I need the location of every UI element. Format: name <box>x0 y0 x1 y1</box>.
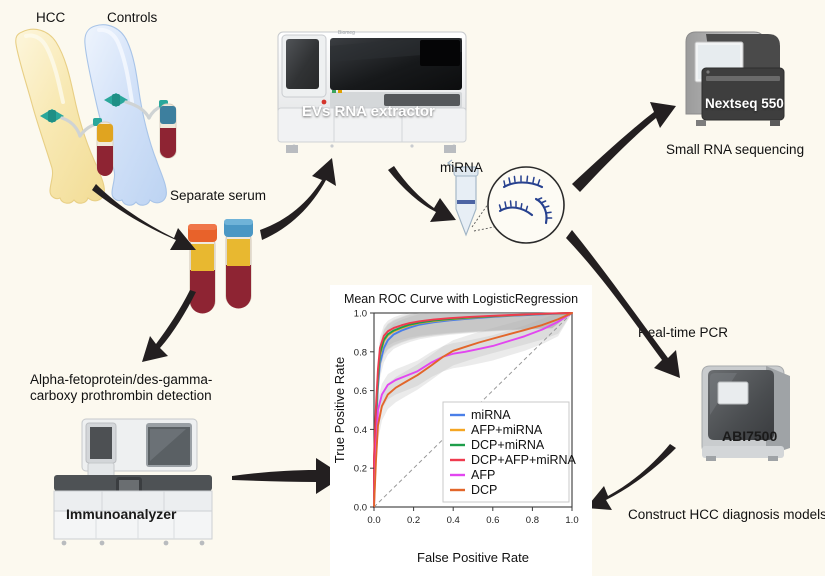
legend-label: DCP+miRNA <box>471 438 545 452</box>
chart-xlabel: False Positive Rate <box>417 550 529 565</box>
x-tick-label: 1.0 <box>565 515 578 526</box>
workflow-figure: HCC Controls Separate serum <box>0 0 825 576</box>
arrow-mirna-to-nextseq <box>572 102 676 192</box>
y-tick-label: 0.6 <box>354 386 367 397</box>
x-tick-label: 0.2 <box>407 515 420 526</box>
arrow-arms-to-tubes <box>92 184 196 250</box>
y-tick-label: 1.0 <box>354 309 367 320</box>
y-tick-label: 0.2 <box>354 464 367 475</box>
roc-chart: Mean ROC Curve with LogisticRegression 0… <box>330 285 592 576</box>
arrow-tubes-to-extractor <box>260 158 336 240</box>
x-tick-label: 0.0 <box>367 515 380 526</box>
legend-label: AFP+miRNA <box>471 423 543 437</box>
legend-label: miRNA <box>471 408 511 422</box>
x-tick-label: 0.4 <box>447 515 460 526</box>
chart-title: Mean ROC Curve with LogisticRegression <box>344 292 578 306</box>
chart-ylabel: True Positive Rate <box>332 357 347 463</box>
legend-label: AFP <box>471 468 495 482</box>
arrow-tubes-to-immuno <box>142 290 196 362</box>
x-tick-label: 0.6 <box>486 515 499 526</box>
x-tick-label: 0.8 <box>526 515 539 526</box>
arrow-extractor-to-mirna <box>388 166 456 222</box>
legend-label: DCP+AFP+miRNA <box>471 453 577 467</box>
y-tick-label: 0.4 <box>354 425 367 436</box>
y-tick-label: 0.0 <box>354 503 367 514</box>
y-tick-label: 0.8 <box>354 347 367 358</box>
chart-legend: miRNAAFP+miRNADCP+miRNADCP+AFP+miRNAAFPD… <box>443 402 577 502</box>
legend-label: DCP <box>471 483 497 497</box>
arrow-immuno-to-chart <box>232 458 344 494</box>
